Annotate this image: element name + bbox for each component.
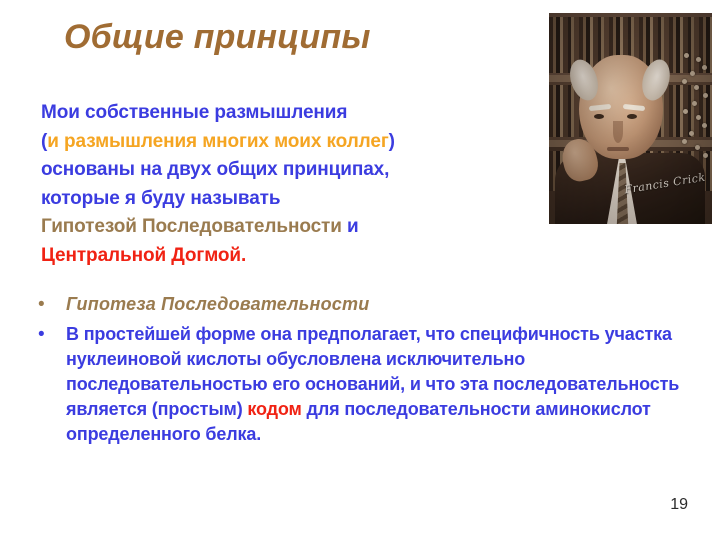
lead-line-5: Гипотезой Последовательности и (41, 213, 481, 242)
portrait-photo: Francis Crick (549, 13, 712, 224)
page-title: Общие принципы (64, 18, 371, 57)
lead-line-2-orange: и размышления многих моих коллег (47, 131, 388, 152)
lead-line-1-text: Мои собственные размышления (41, 102, 347, 123)
lead-line-6: Центральной Догмой. (41, 242, 481, 271)
list-item: • Гипотеза Последовательности (34, 292, 684, 317)
lead-line-5-blue: и (342, 216, 359, 237)
figure-mouth (607, 147, 629, 151)
slide-canvas: Общие принципы (0, 0, 720, 540)
lead-close-paren: ) (389, 131, 395, 152)
page-number: 19 (670, 496, 688, 514)
explanation-code-word: кодом (247, 399, 301, 419)
lead-line-1: Мои собственные размышления (41, 99, 481, 128)
bullet-text-hypothesis: Гипотеза Последовательности (66, 292, 684, 317)
bullet-text-explanation: В простейшей форме она предполагает, что… (66, 322, 684, 447)
lead-line-3-text: основаны на двух общих принципах, (41, 159, 389, 180)
photo-background: Francis Crick (549, 13, 712, 224)
lead-line-3: основаны на двух общих принципах, (41, 156, 481, 185)
lead-paragraph: Мои собственные размышления (и размышлен… (41, 99, 481, 270)
lead-line-4: которые я буду называть (41, 185, 481, 214)
list-item: • В простейшей форме она предполагает, ч… (34, 322, 684, 447)
figure-eye-left (594, 114, 604, 119)
bullet-list: • Гипотеза Последовательности • В просте… (34, 292, 684, 447)
lead-line-6-red: Центральной Догмой. (41, 245, 246, 266)
bullet-marker-icon: • (34, 322, 66, 347)
lead-line-5-brown: Гипотезой Последовательности (41, 216, 342, 237)
figure-nose (613, 121, 623, 143)
lead-line-4-text: которые я буду называть (41, 188, 280, 209)
lead-line-2: (и размышления многих моих коллег) (41, 128, 481, 157)
bullet-marker-icon: • (34, 292, 66, 317)
figure-eye-right (627, 114, 637, 119)
